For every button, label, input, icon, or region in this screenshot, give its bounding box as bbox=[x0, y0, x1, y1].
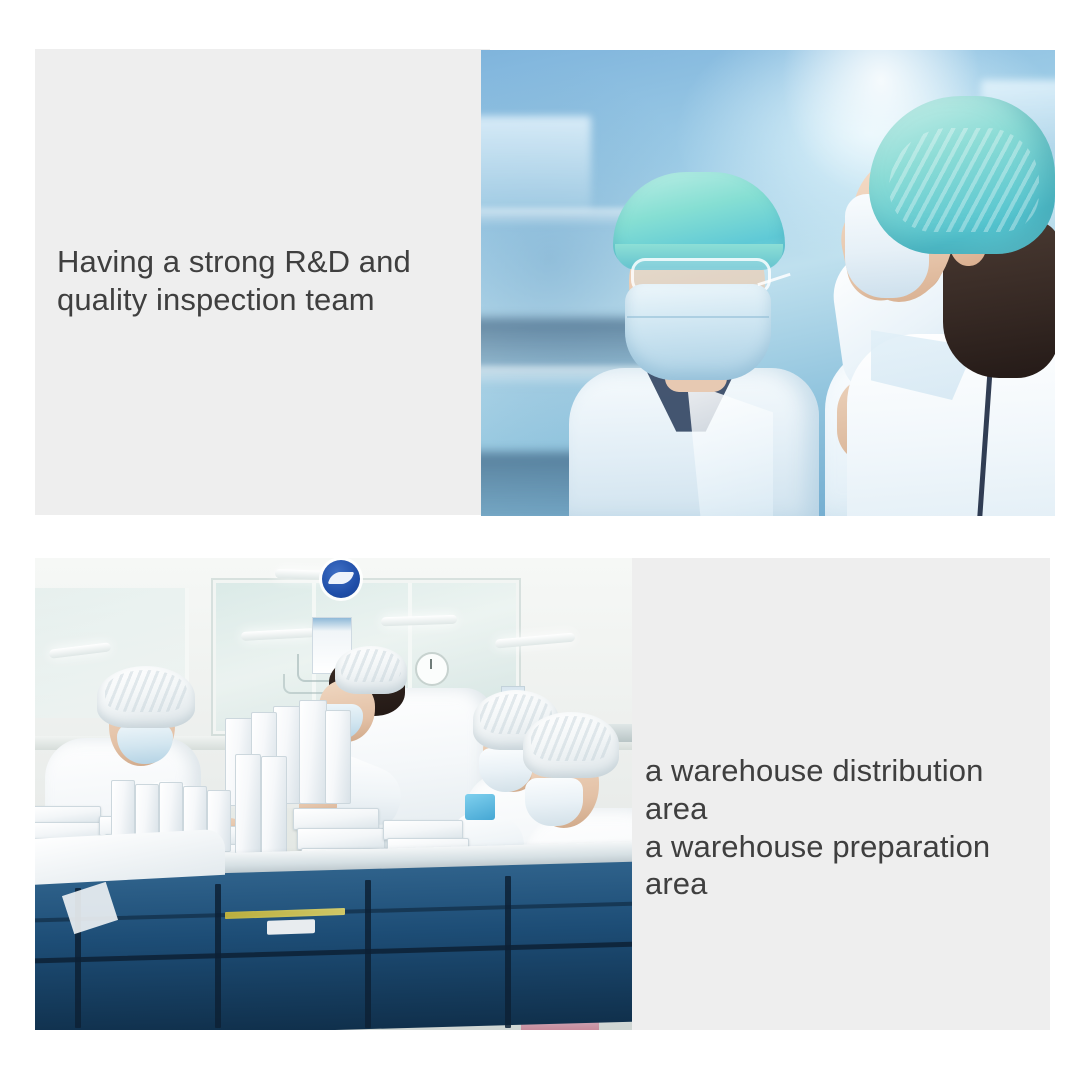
blue-circular-sign bbox=[322, 560, 360, 598]
box-stack-item bbox=[299, 700, 327, 804]
box-on-table bbox=[297, 828, 385, 850]
worker-hairnet bbox=[335, 646, 407, 694]
rnd-caption: Having a strong R&D and quality inspecti… bbox=[57, 243, 467, 319]
worker-hairnet bbox=[97, 666, 195, 728]
box-on-table bbox=[293, 808, 379, 830]
technician-face-mask bbox=[625, 284, 771, 380]
standing-carton bbox=[235, 754, 261, 854]
warehouse-photo bbox=[35, 558, 632, 1030]
blue-product-item bbox=[465, 794, 495, 820]
warehouse-caption: a warehouse distribution area a warehous… bbox=[645, 752, 1045, 903]
worker-face-mask bbox=[525, 778, 583, 826]
lab-technician-profile bbox=[853, 72, 1055, 516]
paper-under-table bbox=[267, 919, 315, 935]
table-leg bbox=[505, 876, 511, 1028]
box-on-table bbox=[383, 820, 463, 840]
worker-hairnet bbox=[523, 712, 619, 778]
technician-hairnet-texture-c bbox=[889, 128, 1039, 232]
technician-mask-fold bbox=[627, 316, 769, 318]
rnd-lab-photo bbox=[481, 50, 1055, 516]
standing-carton bbox=[261, 756, 287, 854]
box-stack-item bbox=[325, 710, 351, 804]
